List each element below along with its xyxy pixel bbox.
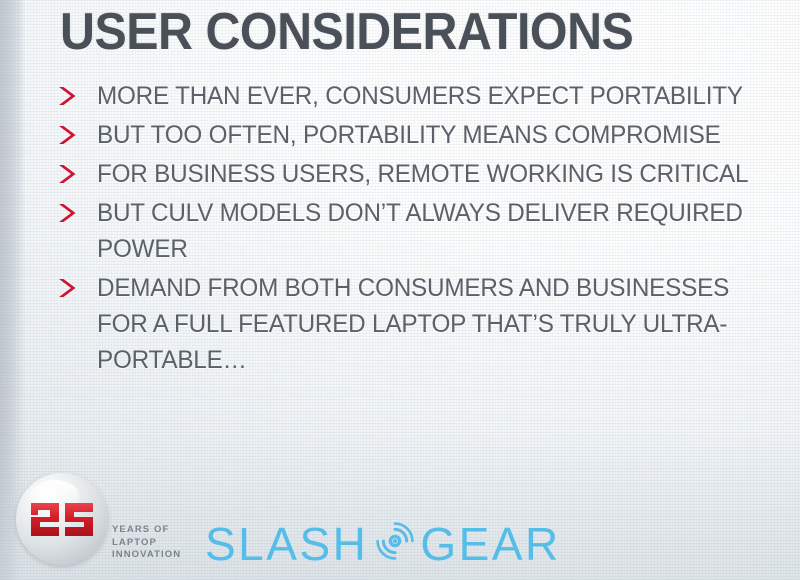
slashgear-logo: SLASH GEAR xyxy=(205,518,561,569)
slide-content: USER CONSIDERATIONS MORE THAN EVER, CONS… xyxy=(0,0,800,580)
badge-caption: YEARS OF LAPTOP INNOVATION xyxy=(112,524,181,562)
list-item: FOR BUSINESS USERS, REMOTE WORKING IS CR… xyxy=(54,156,796,192)
list-item-label: BUT TOO OFTEN, PORTABILITY MEANS COMPROM… xyxy=(97,117,775,153)
bullet-list: MORE THAN EVER, CONSUMERS EXPECT PORTABI… xyxy=(54,78,796,381)
presentation-slide: USER CONSIDERATIONS MORE THAN EVER, CONS… xyxy=(0,0,800,580)
chevron-right-icon xyxy=(54,117,97,148)
list-item: DEMAND FROM BOTH CONSUMERS AND BUSINESSE… xyxy=(54,270,796,378)
badge-caption-line-2: LAPTOP xyxy=(112,537,181,550)
list-item-label: DEMAND FROM BOTH CONSUMERS AND BUSINESSE… xyxy=(97,270,775,378)
list-item: BUT CULV MODELS DON’T ALWAYS DELIVER REQ… xyxy=(54,195,796,267)
twenty-five-anniversary-icon xyxy=(16,473,108,565)
list-item: BUT TOO OFTEN, PORTABILITY MEANS COMPROM… xyxy=(54,117,796,153)
list-item-label: BUT CULV MODELS DON’T ALWAYS DELIVER REQ… xyxy=(97,195,775,267)
slashgear-word-right: GEAR xyxy=(420,521,560,567)
badge-caption-line-1: YEARS OF xyxy=(112,524,181,537)
slashgear-word-left: SLASH xyxy=(205,521,368,567)
badge-numeral-mark xyxy=(16,473,108,565)
chevron-right-icon xyxy=(54,78,97,109)
chevron-right-icon xyxy=(54,270,97,301)
list-item-label: FOR BUSINESS USERS, REMOTE WORKING IS CR… xyxy=(97,156,775,192)
badge-caption-line-3: INNOVATION xyxy=(112,549,181,562)
list-item: MORE THAN EVER, CONSUMERS EXPECT PORTABI… xyxy=(54,78,796,114)
chevron-right-icon xyxy=(54,195,97,226)
chevron-right-icon xyxy=(54,156,97,187)
slide-title: USER CONSIDERATIONS xyxy=(60,2,633,62)
list-item-label: MORE THAN EVER, CONSUMERS EXPECT PORTABI… xyxy=(97,78,775,114)
slashgear-swirl-icon xyxy=(372,518,418,569)
